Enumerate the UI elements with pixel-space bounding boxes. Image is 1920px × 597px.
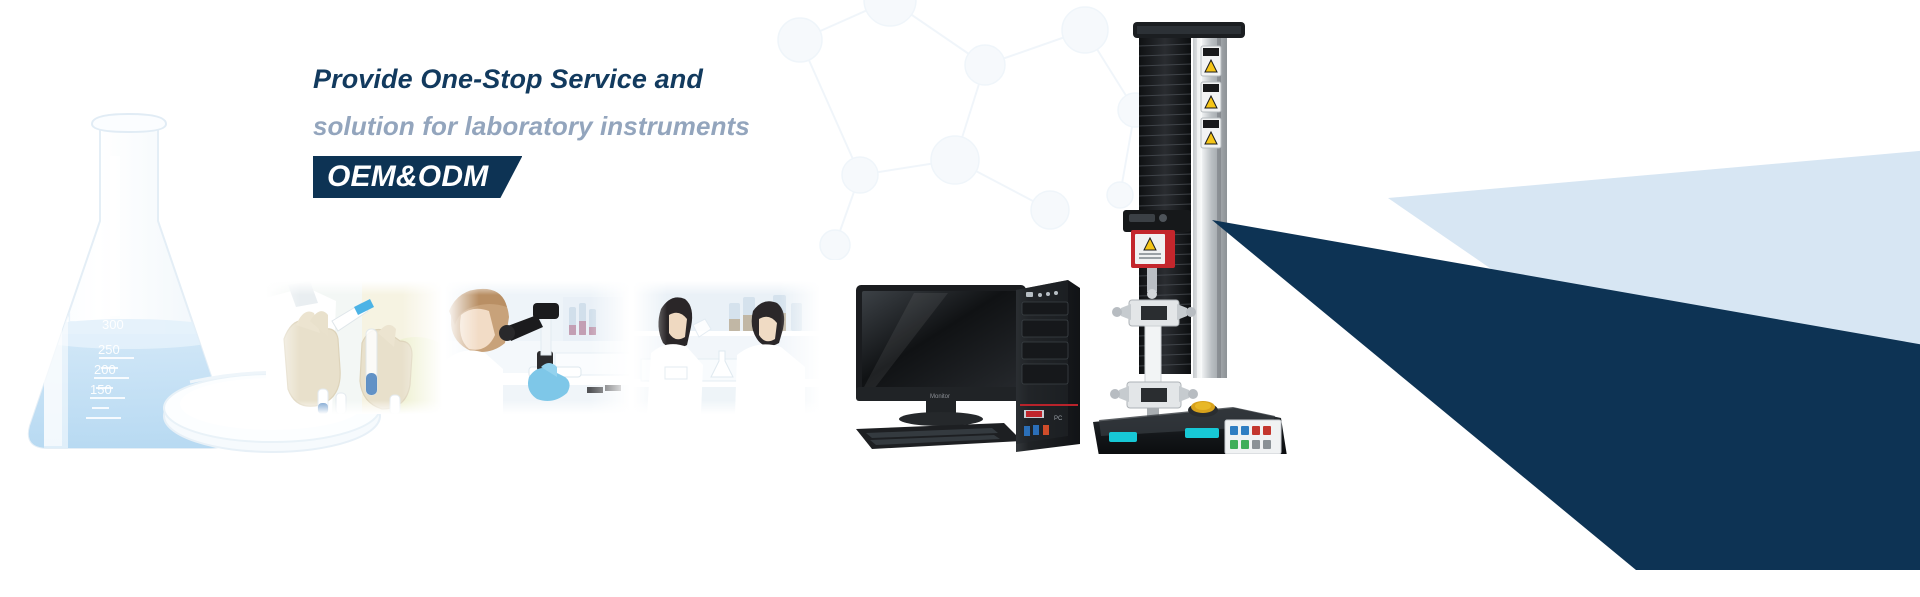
computer-tower: PC [1010,280,1082,452]
accent-triangle-light [1350,130,1920,460]
svg-text:Monitor: Monitor [930,394,950,400]
photo-lab-workers-bench [633,281,820,414]
hero-banner: 300 250 200 150 mL Provide [0,0,1920,597]
svg-text:PC: PC [1054,416,1063,422]
accent-arrow-dark [1200,150,1920,570]
svg-text:250: 250 [98,342,120,357]
lab-photo-strip [266,281,820,414]
headline-line-2: solution for laboratory instruments [313,102,933,150]
svg-text:200: 200 [94,362,116,377]
headline-line-1: Provide One-Stop Service and [313,56,933,102]
desktop-computer: Monitor [852,283,1092,453]
warning-label [1201,46,1221,148]
photo-microscope-technician [445,281,630,414]
headline-block: Provide One-Stop Service and solution fo… [313,56,933,198]
oem-odm-badge: OEM&ODM [313,156,522,198]
svg-text:300: 300 [102,317,124,332]
erlenmeyer-flask: 300 250 200 150 mL [0,96,294,496]
svg-text:150: 150 [90,382,112,397]
photo-pipetting-test-tubes [266,281,442,414]
universal-testing-machine [1085,22,1300,454]
svg-text:mL: mL [56,309,76,325]
